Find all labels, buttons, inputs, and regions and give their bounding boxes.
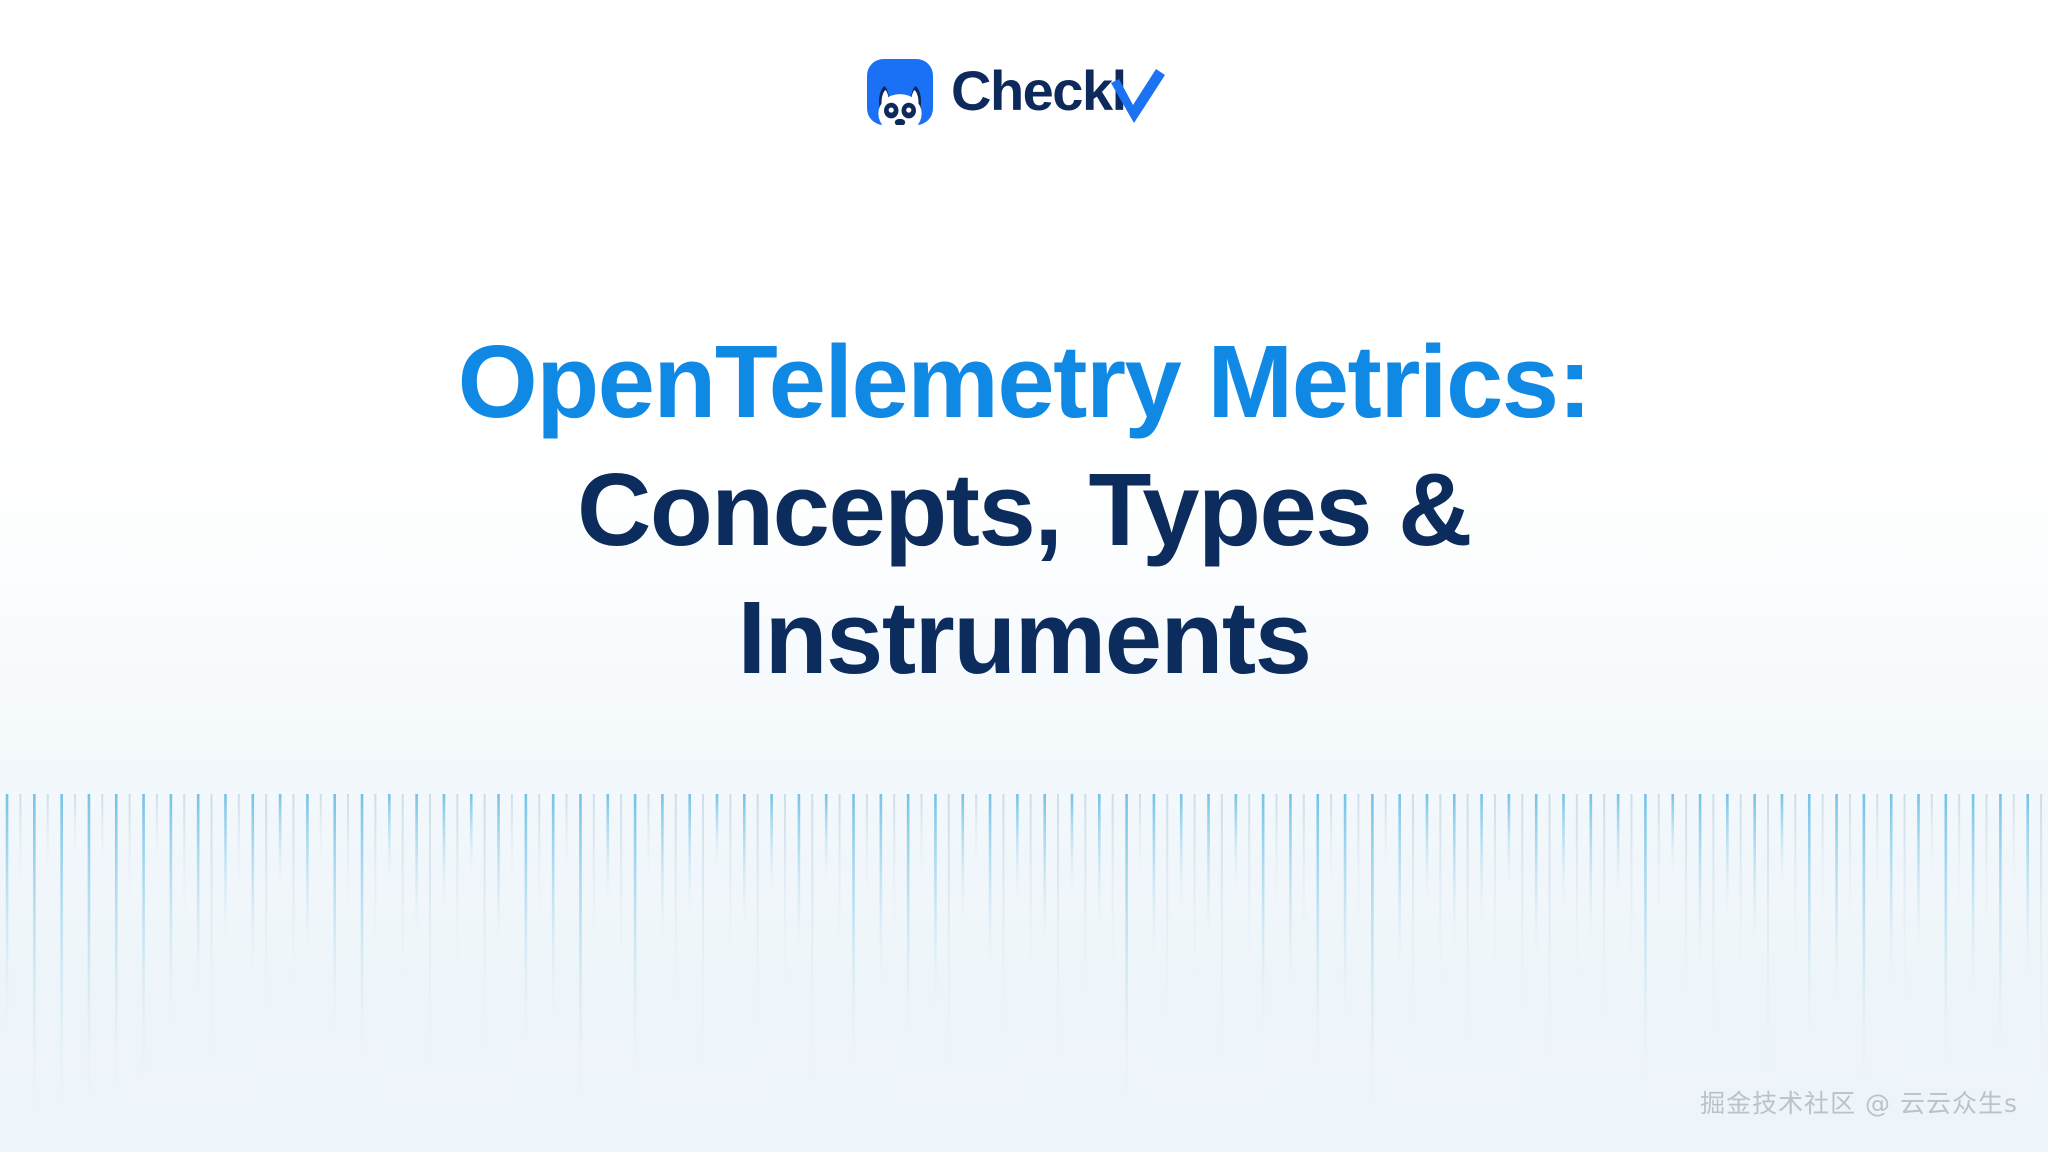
decorative-bar: [1303, 794, 1305, 957]
decorative-bar: [1630, 794, 1632, 984]
decorative-bar: [1726, 794, 1729, 916]
decorative-bar: [1549, 794, 1551, 1100]
decorative-bar: [6, 794, 9, 1039]
decorative-bar: [1576, 794, 1578, 1005]
decorative-bar: [306, 794, 309, 957]
decorative-bar: [1235, 794, 1238, 889]
decorative-bar: [74, 794, 76, 862]
decorative-bar: [1385, 794, 1387, 882]
decorative-bar: [197, 794, 200, 1005]
decorative-bar: [921, 794, 923, 889]
decorative-bar: [975, 794, 977, 876]
decorative-bar: [825, 794, 828, 882]
decorative-bar: [1767, 794, 1769, 1107]
decorative-bar: [934, 794, 937, 1018]
decorative-bar: [593, 794, 595, 964]
decorative-bar: [1699, 794, 1702, 971]
decorative-bar: [1985, 794, 1987, 944]
decorative-bar: [852, 794, 855, 1073]
decorative-bar: [1972, 794, 1975, 1005]
decorative-bar: [1508, 794, 1511, 889]
decorative-bar: [1658, 794, 1660, 930]
decorative-bar: [757, 794, 759, 1059]
decorative-bar: [1590, 794, 1593, 944]
decorative-bar: [1863, 794, 1866, 1093]
decorative-bar: [1153, 794, 1156, 964]
decorative-bar: [1071, 794, 1074, 896]
decorative-bar: [2040, 794, 2042, 1100]
decorative-bar: [893, 794, 895, 937]
decorative-bar: [251, 794, 254, 981]
decorative-bar: [1166, 794, 1168, 1052]
decorative-bar: [1289, 794, 1292, 998]
decorative-bar: [811, 794, 813, 1114]
decorative-bar: [661, 794, 664, 944]
decorative-bar: [265, 794, 267, 1046]
decorative-bar: [1521, 794, 1523, 1039]
decorative-bar: [279, 794, 282, 889]
decorative-bar: [634, 794, 637, 1080]
decorative-bar: [1057, 794, 1059, 1086]
decorative-bar: [1084, 794, 1086, 1032]
decorative-bar: [443, 794, 446, 910]
decorative-bar: [1098, 794, 1101, 930]
decorative-bar: [1644, 794, 1647, 1086]
decorative-bar: [129, 794, 131, 910]
decorative-bar: [1043, 794, 1046, 950]
decorative-bar: [497, 794, 500, 950]
decorative-bar: [1398, 794, 1401, 978]
decorative-bar: [1685, 794, 1687, 1025]
decorative-bar: [429, 794, 431, 1100]
decorative-bar: [1835, 794, 1838, 1012]
decorative-bar: [1794, 794, 1796, 978]
decorative-bar: [606, 794, 609, 903]
decorative-bar: [1603, 794, 1605, 1052]
decorative-bar: [1275, 794, 1277, 916]
decorative-bar: [1781, 794, 1784, 889]
decorative-bar: [170, 794, 173, 1032]
decorative-bar: [1999, 794, 2002, 1059]
decorative-bar: [1344, 794, 1347, 1025]
decorative-bar: [292, 794, 294, 1018]
decorative-bar: [1494, 794, 1496, 991]
decorative-bar: [1890, 794, 1893, 991]
brand-logo-lockup: Checkl: [0, 55, 2048, 129]
decorative-bar: [1904, 794, 1906, 1032]
decorative-bar: [1535, 794, 1538, 964]
decorative-bar: [470, 794, 473, 876]
decorative-bar: [1426, 794, 1429, 903]
decorative-bar: [961, 794, 964, 923]
decorative-bar: [19, 794, 21, 896]
decorative-bar: [88, 794, 91, 1107]
decorative-bar: [688, 794, 691, 916]
title-line-2: Concepts, Types &: [0, 446, 2048, 574]
decorative-bar: [1180, 794, 1183, 910]
decorative-bar: [948, 794, 950, 1100]
decorative-bar: [33, 794, 36, 1117]
decorative-bar: [1808, 794, 1811, 1046]
decorative-bar: [47, 794, 49, 882]
decorative-bar: [1945, 794, 1948, 1073]
decorative-bar: [729, 794, 731, 984]
decorative-bar: [142, 794, 145, 1086]
decorative-bar: [702, 794, 704, 1093]
decorative-bar: [115, 794, 118, 1100]
decorative-bar: [456, 794, 458, 991]
decorative-bar: [388, 794, 391, 882]
watermark-text: 掘金技术社区 @ 云云众生s: [1700, 1091, 2018, 1116]
decorative-bar: [347, 794, 349, 916]
decorative-bar: [211, 794, 213, 1093]
decorative-bar: [1125, 794, 1128, 1107]
decorative-bar: [1617, 794, 1620, 896]
decorative-bar: [675, 794, 677, 1032]
slide-title-block: OpenTelemetry Metrics: Concepts, Types &…: [0, 318, 2048, 702]
svg-text:Checkl: Checkl: [951, 59, 1126, 122]
decorative-bar: [2026, 794, 2029, 984]
decorative-bar: [770, 794, 773, 896]
decorative-bar: [1958, 794, 1960, 916]
title-line-1: OpenTelemetry Metrics:: [0, 318, 2048, 446]
decorative-bar: [620, 794, 622, 998]
checkly-raccoon-icon: [867, 59, 933, 125]
decorative-bar: [538, 794, 540, 923]
decorative-bar: [374, 794, 376, 971]
title-line-3: Instruments: [0, 574, 2048, 702]
decorative-bar: [1016, 794, 1019, 903]
decorative-bar: [1467, 794, 1469, 1080]
slide-root: Checkl OpenTelemetry Metrics: Concepts, …: [0, 0, 2048, 1152]
decorative-bar: [579, 794, 582, 1107]
decorative-bar: [1316, 794, 1319, 1073]
decorative-bar: [1562, 794, 1565, 910]
decorative-bar: [320, 794, 322, 869]
decorative-bar: [183, 794, 185, 930]
decorative-bar: [716, 794, 719, 869]
decorative-bar: [1330, 794, 1332, 896]
decorative-bar: [2013, 794, 2015, 896]
decorative-bar: [839, 794, 841, 971]
decorative-bar: [1849, 794, 1851, 937]
decorative-bar: [1712, 794, 1714, 1066]
decorative-bar: [1002, 794, 1004, 1066]
decorative-bar: [402, 794, 404, 1012]
decorative-bar: [238, 794, 240, 896]
decorative-bar: [1262, 794, 1265, 1039]
decorative-bar: [1453, 794, 1456, 950]
decorative-bar: [1822, 794, 1824, 923]
decorative-bar: [333, 794, 336, 1039]
decorative-bar: [866, 794, 868, 910]
decorative-bar: [1917, 794, 1920, 957]
decorative-bar: [361, 794, 364, 1066]
decorative-bar: [1671, 794, 1674, 876]
decorative-bar: [1371, 794, 1374, 1114]
decorative-bar: [224, 794, 227, 944]
decorative-bar: [1248, 794, 1250, 984]
decorative-bar: [415, 794, 418, 937]
decorative-bar: [1112, 794, 1114, 991]
decorative-bar: [101, 794, 103, 876]
decorative-bar: [525, 794, 528, 1052]
decorative-bar: [798, 794, 801, 957]
decorative-bar: [1194, 794, 1196, 1012]
decorative-bar: [743, 794, 746, 930]
decorative-bar: [1221, 794, 1223, 1093]
decorative-bar: [1753, 794, 1756, 950]
decorative-bar: [907, 794, 910, 1046]
decorative-bar: [1207, 794, 1210, 944]
decorative-bar: [1480, 794, 1483, 923]
checkly-wordmark: Checkl: [951, 55, 1181, 129]
decorative-bar: [511, 794, 513, 896]
decorative-bar: [566, 794, 568, 882]
decorative-bar: [880, 794, 883, 991]
decorative-bar: [156, 794, 158, 869]
decorative-bar: [1931, 794, 1933, 882]
decorative-bar: [60, 794, 63, 1114]
decorative-bar: [784, 794, 786, 1012]
decorative-bar: [484, 794, 486, 1086]
decorative-bar: [1139, 794, 1141, 882]
decorative-bar: [552, 794, 555, 1025]
decorative-bar: [647, 794, 649, 889]
decorative-bar: [1357, 794, 1359, 937]
decorative-bar: [1740, 794, 1742, 998]
decorative-bar: [1412, 794, 1414, 1059]
decorative-bar: [1439, 794, 1441, 1018]
decorative-bar: [1876, 794, 1878, 903]
decorative-bar: [1030, 794, 1032, 1005]
decorative-bar: [989, 794, 992, 978]
